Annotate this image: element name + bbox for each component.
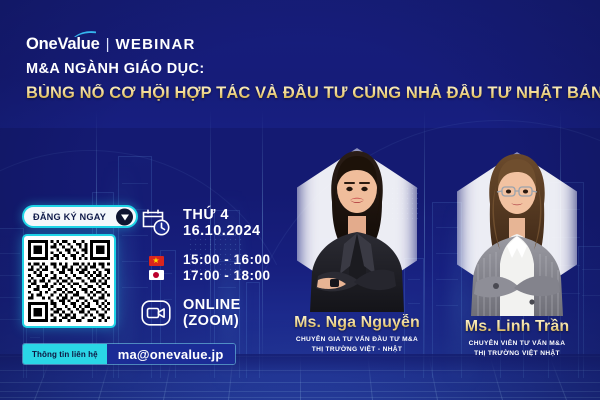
headline-line-3: BÙNG NỔ CƠ HỘI HỢP TÁC VÀ ĐẦU TƯ CÙNG NH… — [26, 84, 600, 102]
speaker-role-line-1: CHUYÊN VIÊN TƯ VẤN M&A — [432, 339, 600, 349]
calendar-clock-icon — [138, 206, 174, 240]
time-values: 15:00 - 16:00 17:00 - 18:00 — [183, 252, 271, 284]
event-details: THỨ 4 16.10.2024 ★ 15:00 - 16:00 17:00 -… — [138, 206, 288, 330]
date-row: THỨ 4 16.10.2024 — [138, 206, 288, 240]
time-vietnam: 15:00 - 16:00 — [183, 252, 271, 268]
platform-row: ONLINE (ZOOM) — [138, 296, 288, 330]
speaker-role: CHUYÊN VIÊN TƯ VẤN M&A THỊ TRƯỜNG VIỆT N… — [432, 339, 600, 359]
speaker-name: Ms. Linh Trần — [432, 318, 600, 336]
speaker-photo — [454, 144, 580, 316]
headline-line-2: M&A NGÀNH GIÁO DỤC: — [26, 62, 600, 78]
speaker-photo-frame — [448, 140, 586, 316]
speaker-card: Ms. Linh Trần CHUYÊN VIÊN TƯ VẤN M&A THỊ… — [432, 140, 600, 359]
speaker-role-line-2: THỊ TRƯỜNG VIỆT - NHẬT — [272, 345, 442, 355]
speaker-role: CHUYÊN GIA TƯ VẤN ĐẦU TƯ M&A THỊ TRƯỜNG … — [272, 335, 442, 355]
platform-line-1: ONLINE — [183, 297, 241, 313]
flag-group: ★ — [138, 256, 174, 280]
event-date: 16.10.2024 — [183, 223, 261, 239]
video-camera-icon — [138, 296, 174, 330]
register-now-button[interactable]: ĐĂNG KÝ NGAY — [22, 205, 138, 228]
brand-lockup: OneValue | WEBINAR — [26, 36, 600, 53]
brand-name: OneValue — [26, 35, 100, 53]
qr-code-card[interactable] — [22, 234, 116, 328]
vietnam-flag-icon: ★ — [149, 256, 164, 266]
time-row: ★ 15:00 - 16:00 17:00 - 18:00 — [138, 252, 288, 284]
webinar-poster: OneValue | WEBINAR M&A NGÀNH GIÁO DỤC: B… — [0, 0, 600, 400]
speaker-role-line-1: CHUYÊN GIA TƯ VẤN ĐẦU TƯ M&A — [272, 335, 442, 345]
contact-bar: Thông tin liên hệ ma@onevalue.jp — [22, 343, 236, 365]
platform-line-2: (ZOOM) — [183, 313, 241, 329]
chevron-down-icon[interactable] — [116, 208, 133, 225]
brand-divider: | — [106, 37, 110, 53]
contact-email[interactable]: ma@onevalue.jp — [107, 344, 235, 364]
onevalue-logo: OneValue — [26, 36, 100, 53]
speaker-name: Ms. Nga Nguyễn — [272, 314, 442, 332]
speaker-card: Ms. Nga Nguyễn CHUYÊN GIA TƯ VẤN ĐẦU TƯ … — [272, 136, 442, 355]
logo-swoosh-icon — [74, 31, 96, 37]
japan-flag-icon — [149, 270, 164, 280]
registration-block: ĐĂNG KÝ NGAY — [22, 205, 138, 328]
poster-header: OneValue | WEBINAR M&A NGÀNH GIÁO DỤC: B… — [26, 36, 600, 103]
event-day: THỨ 4 — [183, 207, 261, 223]
webinar-label: WEBINAR — [116, 37, 196, 53]
register-now-label: ĐĂNG KÝ NGAY — [33, 212, 106, 222]
qr-code-icon — [28, 240, 110, 322]
speaker-photo-frame — [288, 136, 426, 312]
contact-label: Thông tin liên hệ — [23, 344, 107, 364]
speaker-photo — [294, 140, 420, 312]
speaker-role-line-2: THỊ TRƯỜNG VIỆT NHẬT — [432, 349, 600, 359]
time-japan: 17:00 - 18:00 — [183, 268, 271, 284]
date-text: THỨ 4 16.10.2024 — [183, 207, 261, 239]
platform-text: ONLINE (ZOOM) — [183, 297, 241, 329]
